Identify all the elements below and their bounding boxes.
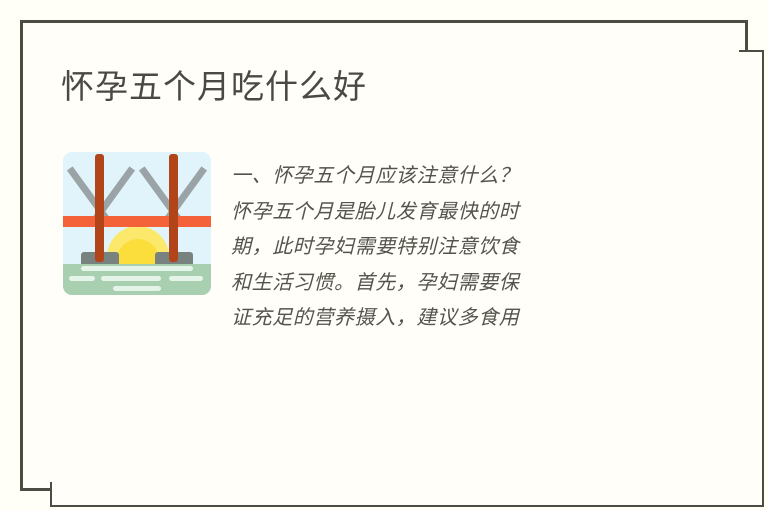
article-body: 一、怀孕五个月应该注意什么？ 怀孕五个月是胎儿发育最快的时 期，此时孕妇需要特别…	[231, 152, 703, 336]
page-title: 怀孕五个月吃什么好	[61, 67, 367, 107]
article-card: 怀孕五个月吃什么好	[29, 29, 739, 482]
bridge-deck-icon	[63, 216, 211, 227]
water-wave-icon	[113, 286, 161, 291]
water-wave-icon	[69, 276, 95, 281]
bridge-illustration	[63, 152, 211, 295]
article-content-row: 一、怀孕五个月应该注意什么？ 怀孕五个月是胎儿发育最快的时 期，此时孕妇需要特别…	[63, 152, 703, 336]
water-wave-icon	[101, 276, 161, 281]
body-line: 一、怀孕五个月应该注意什么？	[231, 158, 703, 194]
body-line: 和生活习惯。首先，孕妇需要保	[231, 265, 703, 301]
body-line: 期，此时孕妇需要特别注意饮食	[231, 229, 703, 265]
bridge-tower-icon	[95, 154, 104, 262]
body-line: 怀孕五个月是胎儿发育最快的时	[231, 194, 703, 230]
water-wave-icon	[169, 276, 203, 281]
bridge-tower-icon	[169, 154, 178, 262]
article-thumbnail[interactable]	[63, 152, 211, 295]
water-wave-icon	[81, 266, 193, 271]
body-line: 证充足的营养摄入，建议多食用	[231, 300, 703, 336]
